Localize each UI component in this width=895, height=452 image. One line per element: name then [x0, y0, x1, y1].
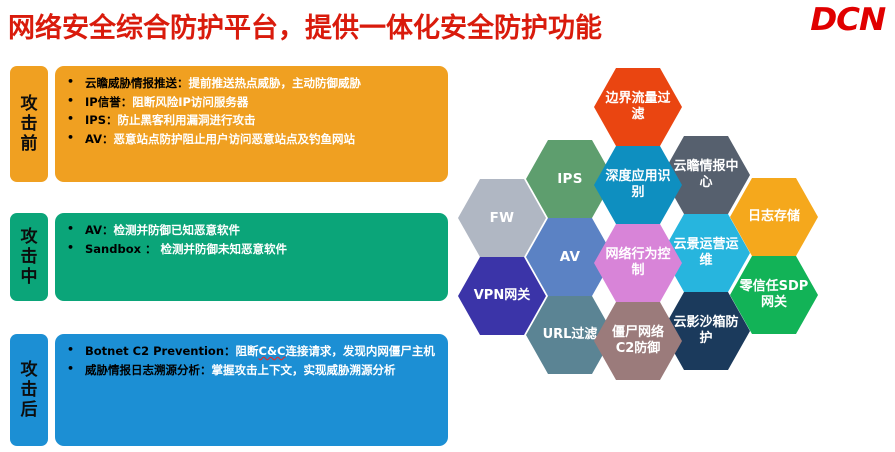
page-title: 网络安全综合防护平台，提供一体化安全防护功能 — [8, 6, 602, 45]
bullet-separator: ： — [121, 95, 133, 109]
hex-cell[interactable]: 网络行为控制 — [594, 224, 682, 302]
bullet-desc: 掌握攻击上下文，实现威胁溯源分析 — [212, 363, 396, 377]
bullet-term: AV — [85, 223, 102, 237]
slide-header: 网络安全综合防护平台，提供一体化安全防护功能 DCN — [0, 0, 895, 48]
list-item: Sandbox ： 检测并防御未知恶意软件 — [59, 241, 440, 258]
stage-tab-char: 击 — [21, 247, 38, 267]
bullet-term: Sandbox — [85, 242, 141, 256]
stage-bullet-list: Botnet C2 Prevention：阻断C&C连接请求，发现内网僵尸主机威… — [59, 343, 440, 378]
stage-body-3: Botnet C2 Prevention：阻断C&C连接请求，发现内网僵尸主机威… — [55, 334, 448, 446]
bullet-desc-pre: 阻断 — [236, 344, 259, 358]
list-item: IPS：防止黑客利用漏洞进行攻击 — [59, 112, 440, 129]
stage-bullet-list: AV：检测并防御已知恶意软件Sandbox ： 检测并防御未知恶意软件 — [59, 222, 440, 257]
stage-tab-char: 击 — [21, 114, 38, 134]
stage-tab-1[interactable]: 攻击前 — [10, 66, 48, 182]
bullet-term: IPS — [85, 113, 106, 127]
bullet-desc-spellflag: C&C — [259, 344, 286, 358]
bullet-term: 云瞻威胁情报推送 — [85, 76, 177, 90]
bullet-desc: 检测并防御未知恶意软件 — [161, 242, 288, 256]
bullet-term: IP信誉 — [85, 95, 121, 109]
bullet-separator: ： — [177, 76, 189, 90]
stage-bullet-list: 云瞻威胁情报推送：提前推送热点威胁，主动防御威胁IP信誉：阻断风险IP访问服务器… — [59, 75, 440, 148]
bullet-desc: 提前推送热点威胁，主动防御威胁 — [189, 76, 362, 90]
list-item: IP信誉：阻断风险IP访问服务器 — [59, 94, 440, 111]
capability-hex-grid: FWIPS边界流量过滤云瞻情报中心日志存储深度应用识别AV云景运营运维VPN网关… — [450, 48, 895, 452]
bullet-term: Botnet C2 Prevention — [85, 344, 224, 358]
bullet-separator: ： — [102, 132, 114, 146]
stage-tab-char: 中 — [21, 267, 38, 287]
stage-tab-char: 后 — [21, 400, 38, 420]
list-item: 威胁情报日志溯源分析：掌握攻击上下文，实现威胁溯源分析 — [59, 362, 440, 379]
attack-stage-2: 攻击中AV：检测并防御已知恶意软件Sandbox ： 检测并防御未知恶意软件 — [0, 213, 450, 301]
stage-tab-char: 前 — [21, 134, 38, 154]
stage-tab-2[interactable]: 攻击中 — [10, 213, 48, 301]
slide-root: 网络安全综合防护平台，提供一体化安全防护功能 DCN 攻击前云瞻威胁情报推送：提… — [0, 0, 895, 452]
list-item: 云瞻威胁情报推送：提前推送热点威胁，主动防御威胁 — [59, 75, 440, 92]
attack-stage-3: 攻击后Botnet C2 Prevention：阻断C&C连接请求，发现内网僵尸… — [0, 334, 450, 446]
stage-body-1: 云瞻威胁情报推送：提前推送热点威胁，主动防御威胁IP信誉：阻断风险IP访问服务器… — [55, 66, 448, 182]
bullet-desc: 检测并防御已知恶意软件 — [114, 223, 241, 237]
stage-body-2: AV：检测并防御已知恶意软件Sandbox ： 检测并防御未知恶意软件 — [55, 213, 448, 301]
bullet-desc: 连接请求，发现内网僵尸主机 — [285, 344, 435, 358]
bullet-term: 威胁情报日志溯源分析 — [85, 363, 200, 377]
list-item: AV：恶意站点防护阻止用户访问恶意站点及钓鱼网站 — [59, 131, 440, 148]
hex-cell[interactable]: 深度应用识别 — [594, 146, 682, 224]
list-item: AV：检测并防御已知恶意软件 — [59, 222, 440, 239]
stage-tab-char: 攻 — [21, 94, 38, 114]
stage-tab-3[interactable]: 攻击后 — [10, 334, 48, 446]
stage-tab-char: 击 — [21, 380, 38, 400]
bullet-desc: 阻断风险IP访问服务器 — [132, 95, 248, 109]
stage-tab-char: 攻 — [21, 227, 38, 247]
bullet-separator: ： — [141, 242, 161, 256]
hex-cell[interactable]: 僵尸网络C2防御 — [594, 302, 682, 380]
bullet-desc: 恶意站点防护阻止用户访问恶意站点及钓鱼网站 — [114, 132, 356, 146]
hex-cell[interactable]: 边界流量过滤 — [594, 68, 682, 146]
attack-stage-1: 攻击前云瞻威胁情报推送：提前推送热点威胁，主动防御威胁IP信誉：阻断风险IP访问… — [0, 66, 450, 182]
bullet-desc: 防止黑客利用漏洞进行攻击 — [118, 113, 256, 127]
bullet-separator: ： — [102, 223, 114, 237]
dcn-logo: DCN — [810, 2, 885, 38]
bullet-separator: ： — [200, 363, 212, 377]
list-item: Botnet C2 Prevention：阻断C&C连接请求，发现内网僵尸主机 — [59, 343, 440, 360]
bullet-separator: ： — [224, 344, 236, 358]
bullet-term: AV — [85, 132, 102, 146]
stage-tab-char: 攻 — [21, 360, 38, 380]
bullet-separator: ： — [106, 113, 118, 127]
